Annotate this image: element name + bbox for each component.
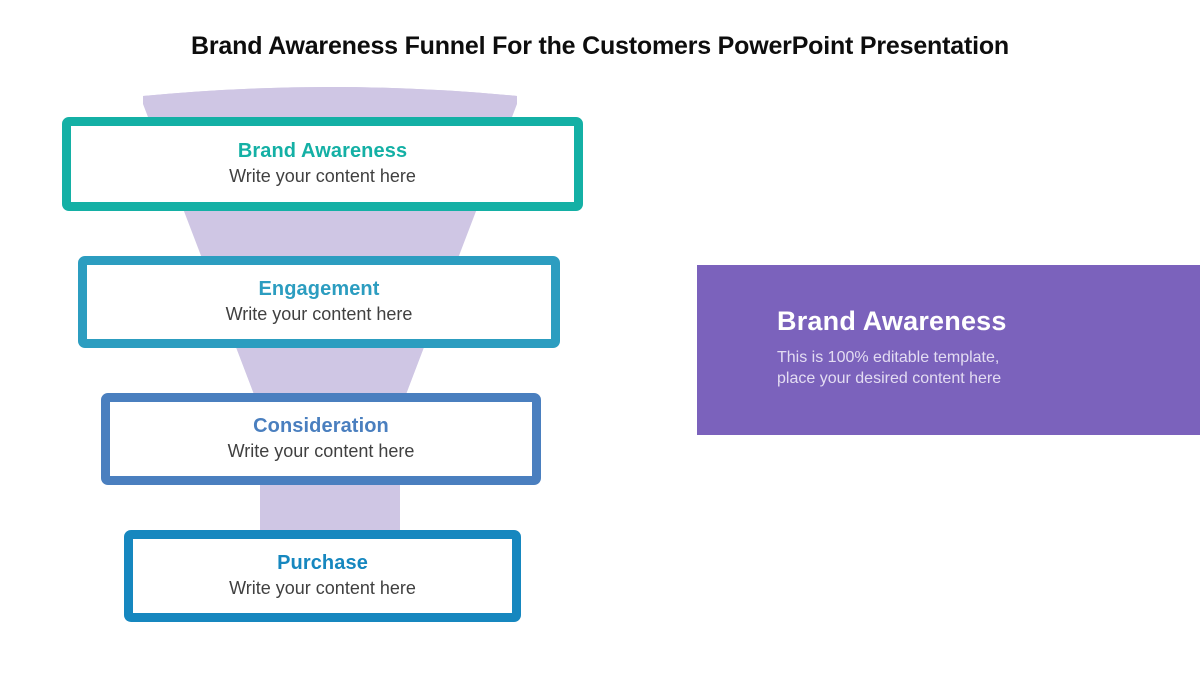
callout-title: Brand Awareness bbox=[777, 307, 1200, 337]
funnel-stage-description: Write your content here bbox=[229, 578, 416, 600]
funnel-stage-label: Purchase bbox=[277, 552, 368, 575]
funnel-stage-purchase[interactable]: Purchase Write your content here bbox=[124, 530, 521, 622]
callout-panel[interactable]: Brand Awareness This is 100% editable te… bbox=[697, 265, 1200, 435]
funnel-stage-description: Write your content here bbox=[229, 166, 416, 188]
funnel-stage-label: Consideration bbox=[253, 415, 389, 438]
funnel-stage-description: Write your content here bbox=[228, 441, 415, 463]
funnel-stage-consideration[interactable]: Consideration Write your content here bbox=[101, 393, 541, 485]
funnel-stage-brand-awareness[interactable]: Brand Awareness Write your content here bbox=[62, 117, 583, 211]
funnel-stage-label: Engagement bbox=[258, 278, 379, 301]
funnel-stage-engagement[interactable]: Engagement Write your content here bbox=[78, 256, 560, 348]
funnel-stage-description: Write your content here bbox=[226, 304, 413, 326]
slide-canvas: Brand Awareness Funnel For the Customers… bbox=[0, 0, 1200, 675]
page-title: Brand Awareness Funnel For the Customers… bbox=[0, 32, 1200, 61]
callout-body: This is 100% editable template, place yo… bbox=[777, 347, 1200, 390]
funnel-stage-label: Brand Awareness bbox=[238, 140, 407, 163]
